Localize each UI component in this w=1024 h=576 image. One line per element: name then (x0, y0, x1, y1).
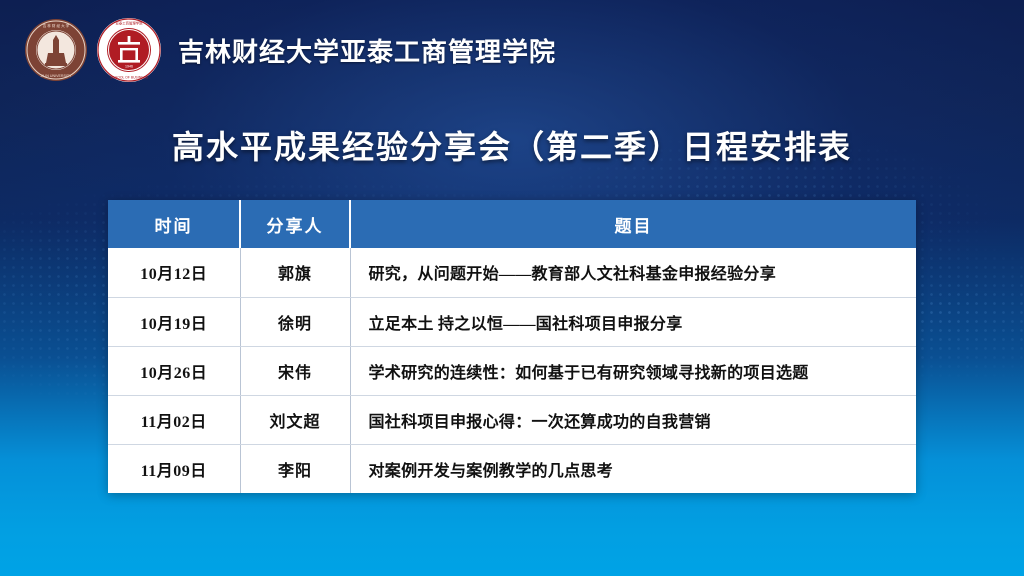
cell-person: 郭旗 (240, 248, 350, 297)
svg-text:1946: 1946 (125, 65, 133, 69)
svg-text:吉 林 财 经 大 学: 吉 林 财 经 大 学 (43, 23, 70, 28)
column-header-time: 时间 (108, 200, 240, 248)
table-header-row: 时间 分享人 题目 (108, 200, 916, 248)
university-seal-left-icon: 吉 林 财 经 大 学 JILIN UNIVERSITY (24, 18, 88, 82)
svg-text:SCHOOL OF BUSINESS: SCHOOL OF BUSINESS (110, 76, 149, 80)
cell-person: 宋伟 (240, 346, 350, 395)
cell-time: 10月19日 (108, 297, 240, 346)
schedule-table: 时间 分享人 题目 10月12日 郭旗 研究，从问题开始——教育部人文社科基金申… (108, 200, 916, 493)
column-header-topic: 题目 (350, 200, 916, 248)
cell-person: 徐明 (240, 297, 350, 346)
table-row: 10月26日 宋伟 学术研究的连续性：如何基于已有研究领域寻找新的项目选题 (108, 346, 916, 395)
table-row: 11月02日 刘文超 国社科项目申报心得：一次还算成功的自我营销 (108, 395, 916, 444)
slide-title: 高水平成果经验分享会（第二季）日程安排表 (0, 122, 1024, 168)
cell-topic: 学术研究的连续性：如何基于已有研究领域寻找新的项目选题 (350, 346, 916, 395)
cell-person: 李阳 (240, 444, 350, 493)
slide-header: 吉 林 财 经 大 学 JILIN UNIVERSITY 亚泰工商管理学院 (0, 0, 1024, 100)
school-seal-right-icon: 亚泰工商管理学院 SCHOOL OF BUSINESS 1946 (96, 17, 162, 83)
cell-topic: 研究，从问题开始——教育部人文社科基金申报经验分享 (350, 248, 916, 297)
slide-canvas: 吉 林 财 经 大 学 JILIN UNIVERSITY 亚泰工商管理学院 (0, 0, 1024, 576)
cell-time: 10月26日 (108, 346, 240, 395)
table-row: 10月19日 徐明 立足本土 持之以恒——国社科项目申报分享 (108, 297, 916, 346)
cell-topic: 立足本土 持之以恒——国社科项目申报分享 (350, 297, 916, 346)
table-row: 11月09日 李阳 对案例开发与案例教学的几点思考 (108, 444, 916, 493)
svg-text:亚泰工商管理学院: 亚泰工商管理学院 (115, 21, 143, 26)
cell-time: 10月12日 (108, 248, 240, 297)
svg-text:JILIN UNIVERSITY: JILIN UNIVERSITY (41, 74, 73, 78)
table-row: 10月12日 郭旗 研究，从问题开始——教育部人文社科基金申报经验分享 (108, 248, 916, 297)
cell-person: 刘文超 (240, 395, 350, 444)
column-header-person: 分享人 (240, 200, 350, 248)
cell-time: 11月02日 (108, 395, 240, 444)
cell-time: 11月09日 (108, 444, 240, 493)
cell-topic: 对案例开发与案例教学的几点思考 (350, 444, 916, 493)
cell-topic: 国社科项目申报心得：一次还算成功的自我营销 (350, 395, 916, 444)
organization-name: 吉林财经大学亚泰工商管理学院 (178, 32, 556, 69)
